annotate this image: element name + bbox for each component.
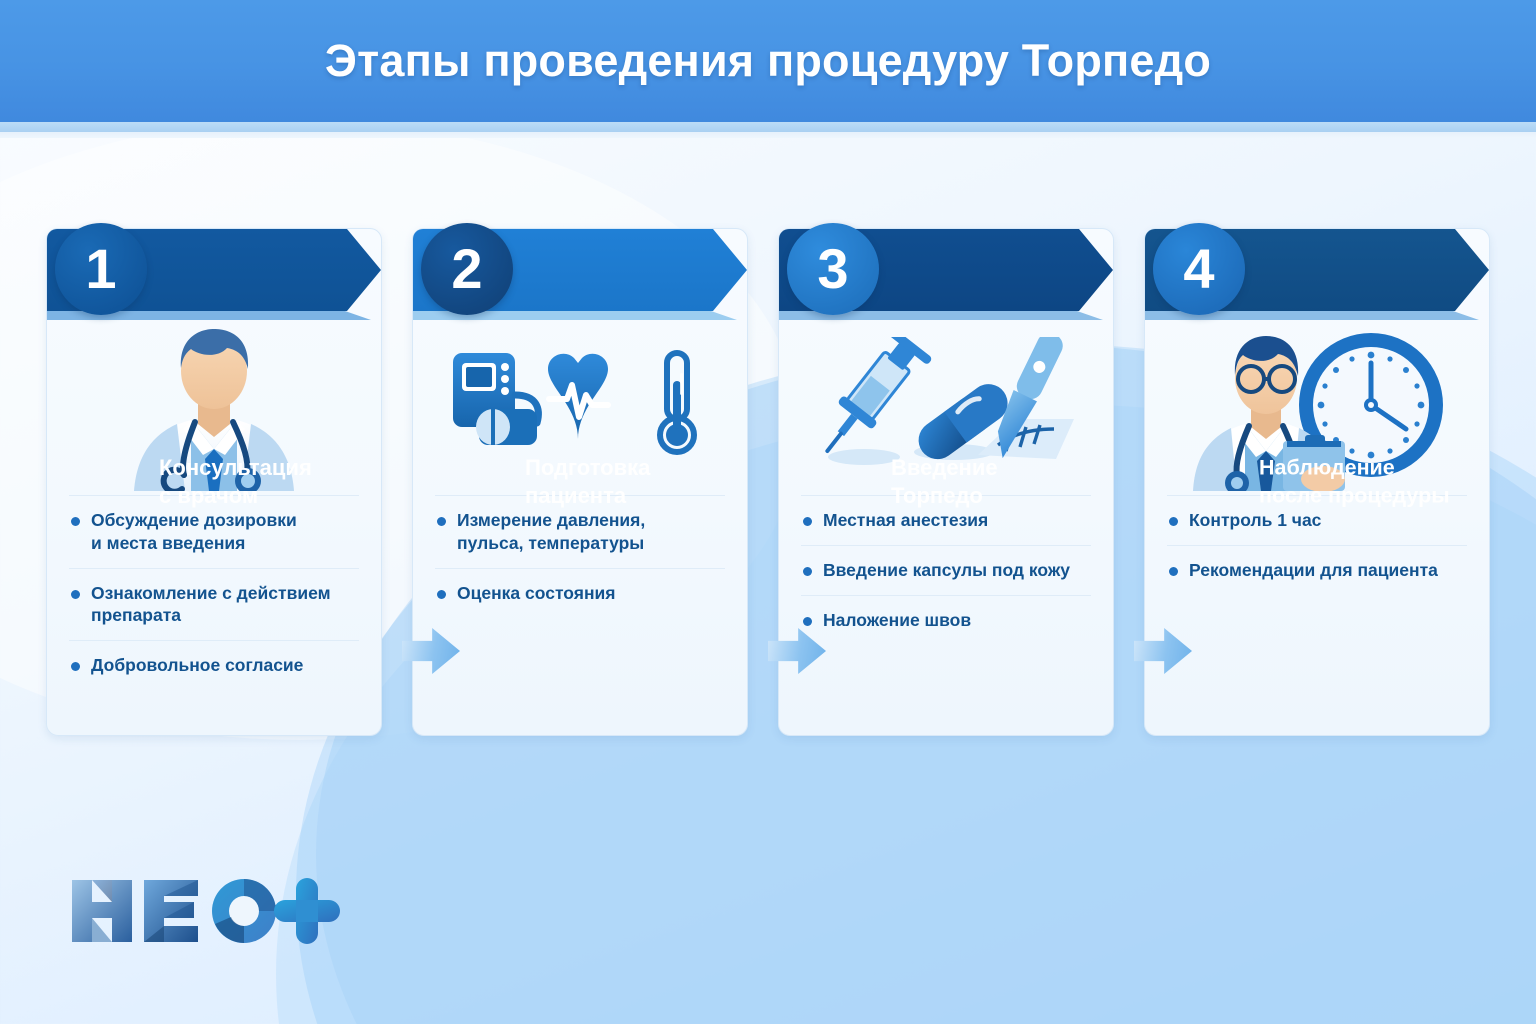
- list-item: Введение капсулы под кожу: [801, 545, 1091, 595]
- bullet-dot-icon: [437, 590, 446, 599]
- step-1-bullets: Обсуждение дозировки и места введения Оз…: [69, 495, 359, 690]
- bullet-dot-icon: [437, 517, 446, 526]
- step-2-number-badge: 2: [421, 223, 513, 315]
- step-4-number-badge: 4: [1153, 223, 1245, 315]
- brand-logo[interactable]: [68, 872, 348, 950]
- step-card-3[interactable]: 3 Введение Торпедо: [778, 228, 1114, 736]
- step-3-bullets: Местная анестезия Введение капсулы под к…: [801, 495, 1091, 644]
- list-item: Добровольное согласие: [69, 640, 359, 690]
- bullet-dot-icon: [803, 517, 812, 526]
- list-item: Рекомендации для пациента: [1167, 545, 1467, 595]
- step-1-number-badge: 1: [55, 223, 147, 315]
- step-2-title: Подготовка пациента: [525, 454, 650, 510]
- step-2-bullets: Измерение давления, пульса, температуры …: [435, 495, 725, 617]
- page-header: Этапы проведения процедуру Торпедо: [0, 0, 1536, 122]
- steps-container: 1 Консультация с врачом: [46, 228, 1490, 738]
- list-item: Оценка состояния: [435, 568, 725, 618]
- bullet-dot-icon: [1169, 517, 1178, 526]
- bullet-dot-icon: [71, 590, 80, 599]
- step-card-4[interactable]: 4 Наблюдение после процедуры: [1144, 228, 1490, 736]
- step-card-2[interactable]: 2 Подготовка пациента: [412, 228, 748, 736]
- header-accent-stripe-light: [0, 132, 1536, 138]
- step-3-title: Введение Торпедо: [891, 454, 998, 510]
- bullet-dot-icon: [1169, 567, 1178, 576]
- bullet-dot-icon: [803, 617, 812, 626]
- bullet-dot-icon: [71, 662, 80, 671]
- bullet-dot-icon: [71, 517, 80, 526]
- list-item: Ознакомление с действием препарата: [69, 568, 359, 641]
- step-3-number-badge: 3: [787, 223, 879, 315]
- bullet-dot-icon: [803, 567, 812, 576]
- vitals-monitor-heart-thermometer-icon: [445, 347, 715, 467]
- header-accent-stripe: [0, 122, 1536, 132]
- step-1-title: Консультация с врачом: [159, 454, 312, 510]
- step-card-1[interactable]: 1 Консультация с врачом: [46, 228, 382, 736]
- neo-plus-logo-icon: [68, 872, 348, 950]
- list-item: Наложение швов: [801, 595, 1091, 645]
- step-4-bullets: Контроль 1 час Рекомендации для пациента: [1167, 495, 1467, 595]
- step-4-title: Наблюдение после процедуры: [1259, 454, 1450, 509]
- page-title: Этапы проведения процедуру Торпедо: [325, 35, 1211, 87]
